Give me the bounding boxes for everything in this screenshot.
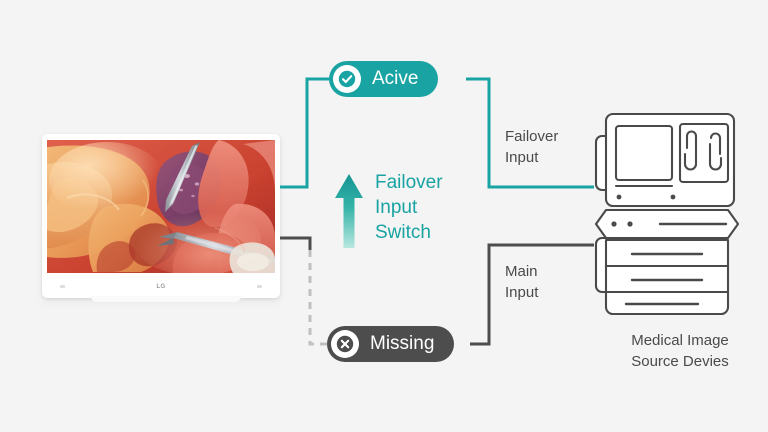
status-badge-missing-label: Missing: [370, 333, 434, 355]
label-main-input: Main Input: [505, 261, 538, 303]
label-failover-input-line-1: Failover: [505, 126, 558, 147]
label-failover-input-line-2: Input: [505, 147, 558, 168]
device-indicator-dot: [671, 195, 676, 200]
wire-monitor-to-missing-solid: [280, 238, 310, 250]
medical-image-source-device: [588, 108, 740, 320]
lg-logo: LG: [157, 284, 166, 290]
device-band-dot: [611, 221, 616, 226]
failover-line-2: Input: [375, 195, 443, 220]
device-caption: Medical Image Source Devies: [600, 330, 760, 372]
check-circle-icon: [333, 65, 361, 93]
label-main-input-line-2: Input: [505, 282, 538, 303]
device-caption-line-2: Source Devies: [600, 351, 760, 372]
wire-monitor-to-active: [280, 79, 331, 187]
device-caption-line-1: Medical Image: [600, 330, 760, 351]
failover-line-1: Failover: [375, 170, 443, 195]
monitor-screen: [47, 140, 275, 273]
monitor-stand: [91, 296, 241, 302]
failover-line-3: Switch: [375, 220, 443, 245]
device-band-dot: [627, 221, 632, 226]
status-badge-missing[interactable]: Missing: [327, 326, 454, 362]
failover-switch-label: Failover Input Switch: [375, 170, 443, 245]
surgical-monitor: LG: [42, 134, 280, 298]
surgical-image: [47, 140, 275, 273]
label-failover-input: Failover Input: [505, 126, 558, 168]
wire-monitor-to-missing-dashed: [310, 250, 331, 344]
up-arrow-icon: [334, 172, 364, 248]
bezel-indicator-right: [257, 285, 262, 288]
status-badge-active-label: Acive: [372, 68, 418, 90]
label-main-input-line-1: Main: [505, 261, 538, 282]
diagram-canvas: LG Acive: [0, 0, 768, 432]
x-circle-icon: [331, 330, 359, 358]
status-badge-active[interactable]: Acive: [329, 61, 438, 97]
device-screen: [616, 126, 672, 180]
monitor-bezel: LG: [42, 273, 280, 298]
bezel-indicator-left: [60, 285, 65, 288]
failover-switch-indicator: Failover Input Switch: [334, 170, 443, 248]
device-indicator-dot: [617, 195, 622, 200]
